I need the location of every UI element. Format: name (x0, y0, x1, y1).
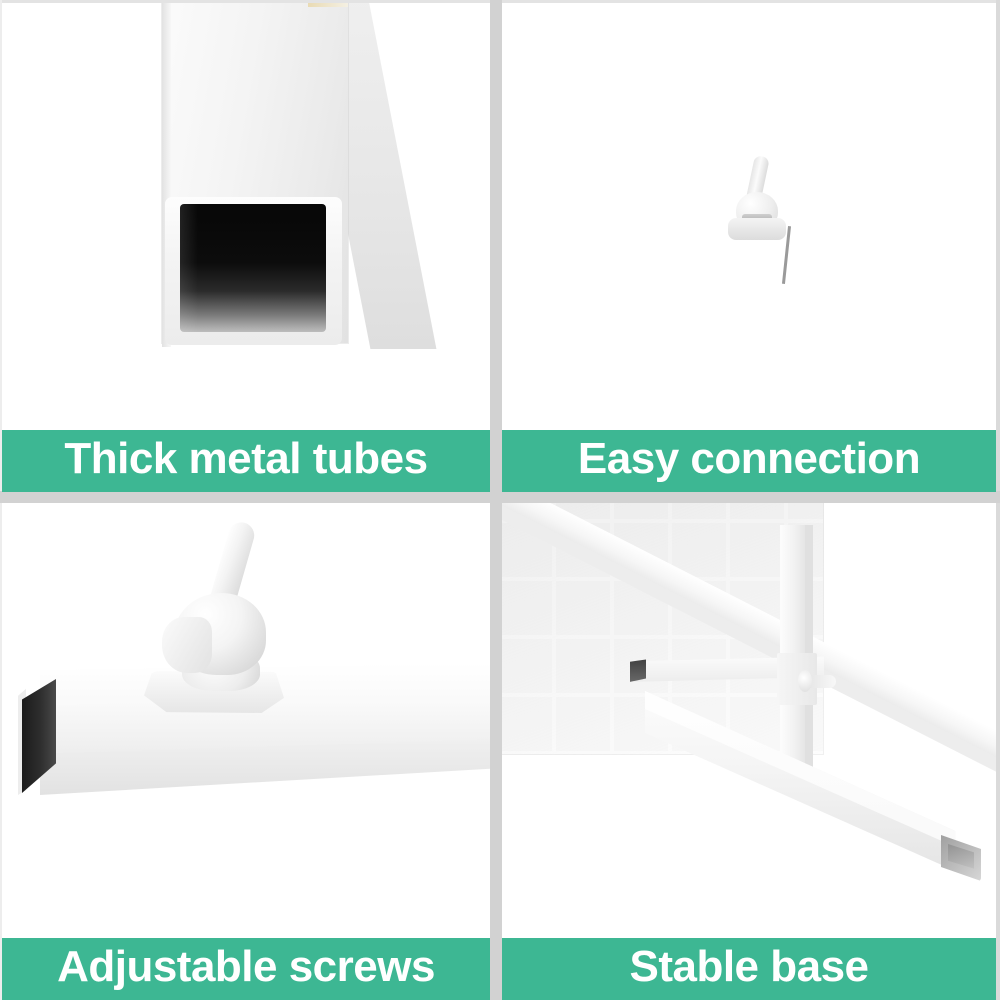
curved-bar-group (502, 98, 996, 318)
panel-stable-base (502, 503, 996, 938)
adjustable-wing-screw (152, 521, 292, 721)
caption-text-bottom-right: Stable base (629, 945, 868, 989)
caption-banner-thick-metal-tubes: Thick metal tubes (2, 430, 490, 492)
wing-screw-base-plate (728, 218, 786, 240)
tube-inner-highlight (180, 204, 198, 332)
caption-text-top-right: Easy connection (578, 437, 920, 481)
panel-adjustable-screws (2, 503, 490, 938)
panel-thick-metal-tubes (2, 3, 490, 430)
wing-screw-connector (724, 156, 792, 252)
caption-text-top-left: Thick metal tubes (64, 437, 427, 481)
caption-banner-stable-base: Stable base (502, 938, 996, 1000)
tube-warm-highlight (308, 3, 348, 7)
caption-text-bottom-left: Adjustable screws (57, 945, 435, 989)
feature-collage: Thick metal tubes Easy connection Adjust… (0, 0, 1000, 1000)
wing-screw-flange (162, 617, 212, 673)
t-shaped-foot (645, 679, 975, 879)
caption-banner-adjustable-screws: Adjustable screws (2, 938, 490, 1000)
panel-easy-connection (502, 3, 996, 430)
divider-vertical-top (490, 0, 502, 500)
base-clamp-head (798, 670, 812, 692)
divider-vertical-bottom (490, 493, 502, 1000)
caption-banner-easy-connection: Easy connection (502, 430, 996, 492)
tube-hollow-opening (180, 204, 326, 332)
